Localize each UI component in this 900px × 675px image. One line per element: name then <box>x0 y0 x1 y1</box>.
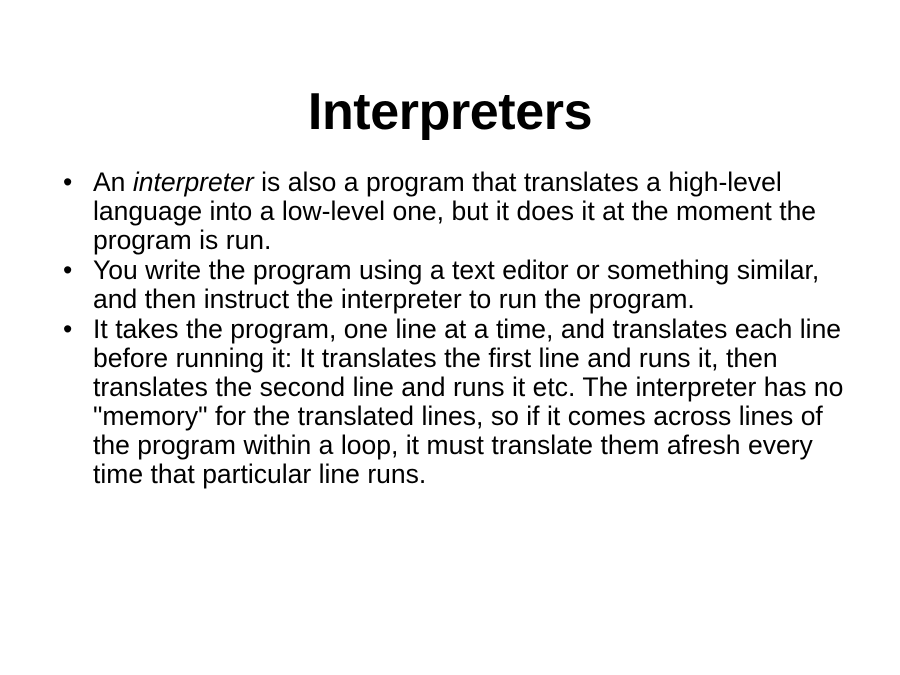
bullet-point-icon: • <box>63 256 77 285</box>
list-item: • It takes the program, one line at a ti… <box>58 315 858 489</box>
list-item: • You write the program using a text edi… <box>58 256 858 314</box>
bullet-point-icon: • <box>63 315 77 344</box>
list-item-text: It takes the program, one line at a time… <box>93 315 858 489</box>
list-item-text-lead: An <box>93 167 133 197</box>
list-item: • An interpreter is also a program that … <box>58 168 858 255</box>
list-item-text: An interpreter is also a program that tr… <box>93 168 858 255</box>
emphasized-term: interpreter <box>133 167 254 197</box>
page-title: Interpreters <box>0 81 900 143</box>
bullet-list: • An interpreter is also a program that … <box>58 168 858 490</box>
bullet-point-icon: • <box>63 168 77 197</box>
list-item-text: You write the program using a text edito… <box>93 256 858 314</box>
slide-canvas: Interpreters • An interpreter is also a … <box>0 0 900 675</box>
